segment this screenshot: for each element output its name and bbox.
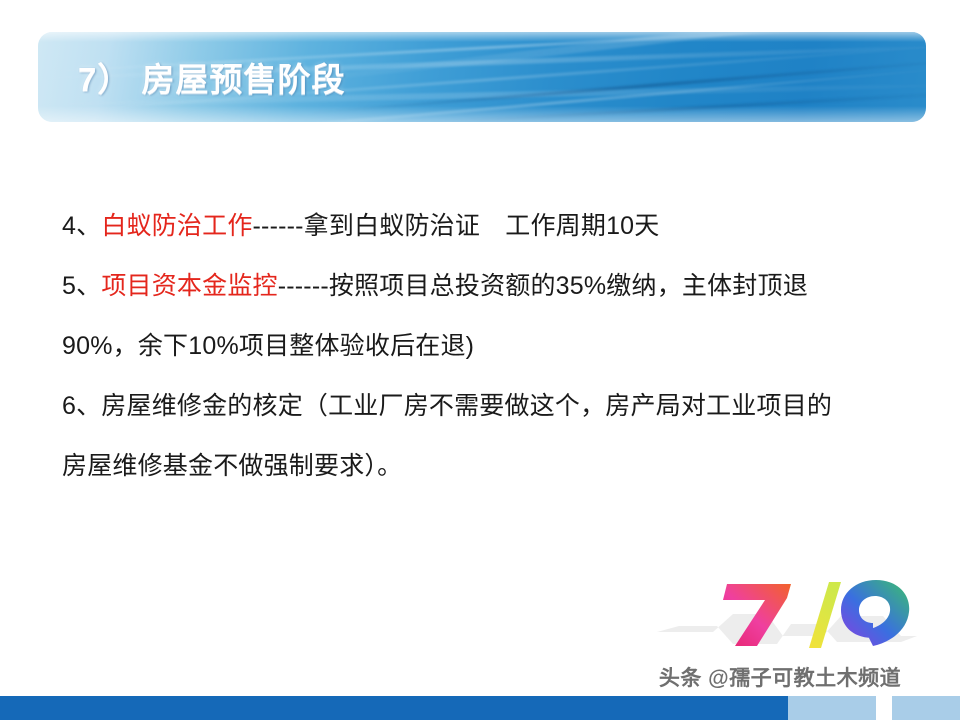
footer-bar-main: [0, 696, 788, 720]
body-line-5: 5、项目资本金监控------按照项目总投资额的35%缴纳，主体封顶退: [62, 256, 922, 316]
body-line-5-highlight: 项目资本金监控: [101, 272, 277, 300]
body-line-4-rest: ------拿到白蚁防治证 工作周期10天: [253, 212, 660, 240]
channel-watermark: 头条 @孺子可教土木频道: [600, 576, 960, 696]
page-title: 7） 房屋预售阶段: [78, 53, 346, 101]
footer-bar: [0, 696, 960, 720]
body-line-5-rest: ------按照项目总投资额的35%缴纳，主体封顶退: [278, 272, 808, 300]
slide-body: 4、白蚁防治工作------拿到白蚁防治证 工作周期10天 5、项目资本金监控-…: [62, 196, 922, 496]
body-line-6: 6、房屋维修金的核定（工业厂房不需要做这个，房产局对工业项目的: [62, 376, 922, 436]
logo-7-9-icon: [713, 576, 913, 654]
body-line-5-index: 5、: [62, 272, 101, 300]
watermark-logo: [655, 576, 925, 654]
body-line-4-highlight: 白蚁防治工作: [101, 212, 252, 240]
watermark-channel-text: 头条 @孺子可教土木频道: [600, 662, 960, 692]
banner-streak: [262, 32, 926, 89]
footer-bar-light-segment: [892, 696, 960, 720]
footer-bar-light-segment: [788, 696, 876, 720]
body-line-5-continuation: 90%，余下10%项目整体验收后在退): [62, 316, 922, 376]
banner-bottom-glow: [38, 106, 926, 122]
body-line-6-continuation: 房屋维修基金不做强制要求）。: [62, 436, 922, 496]
banner-top-glow: [38, 32, 926, 42]
slide-canvas: 7） 房屋预售阶段 4、白蚁防治工作------拿到白蚁防治证 工作周期10天 …: [0, 0, 960, 720]
body-line-4: 4、白蚁防治工作------拿到白蚁防治证 工作周期10天: [62, 196, 922, 256]
slide-title-banner: 7） 房屋预售阶段: [38, 32, 926, 122]
body-line-4-index: 4、: [62, 212, 101, 240]
banner-streak-dark: [411, 90, 926, 122]
banner-streak-dark: [305, 56, 926, 115]
